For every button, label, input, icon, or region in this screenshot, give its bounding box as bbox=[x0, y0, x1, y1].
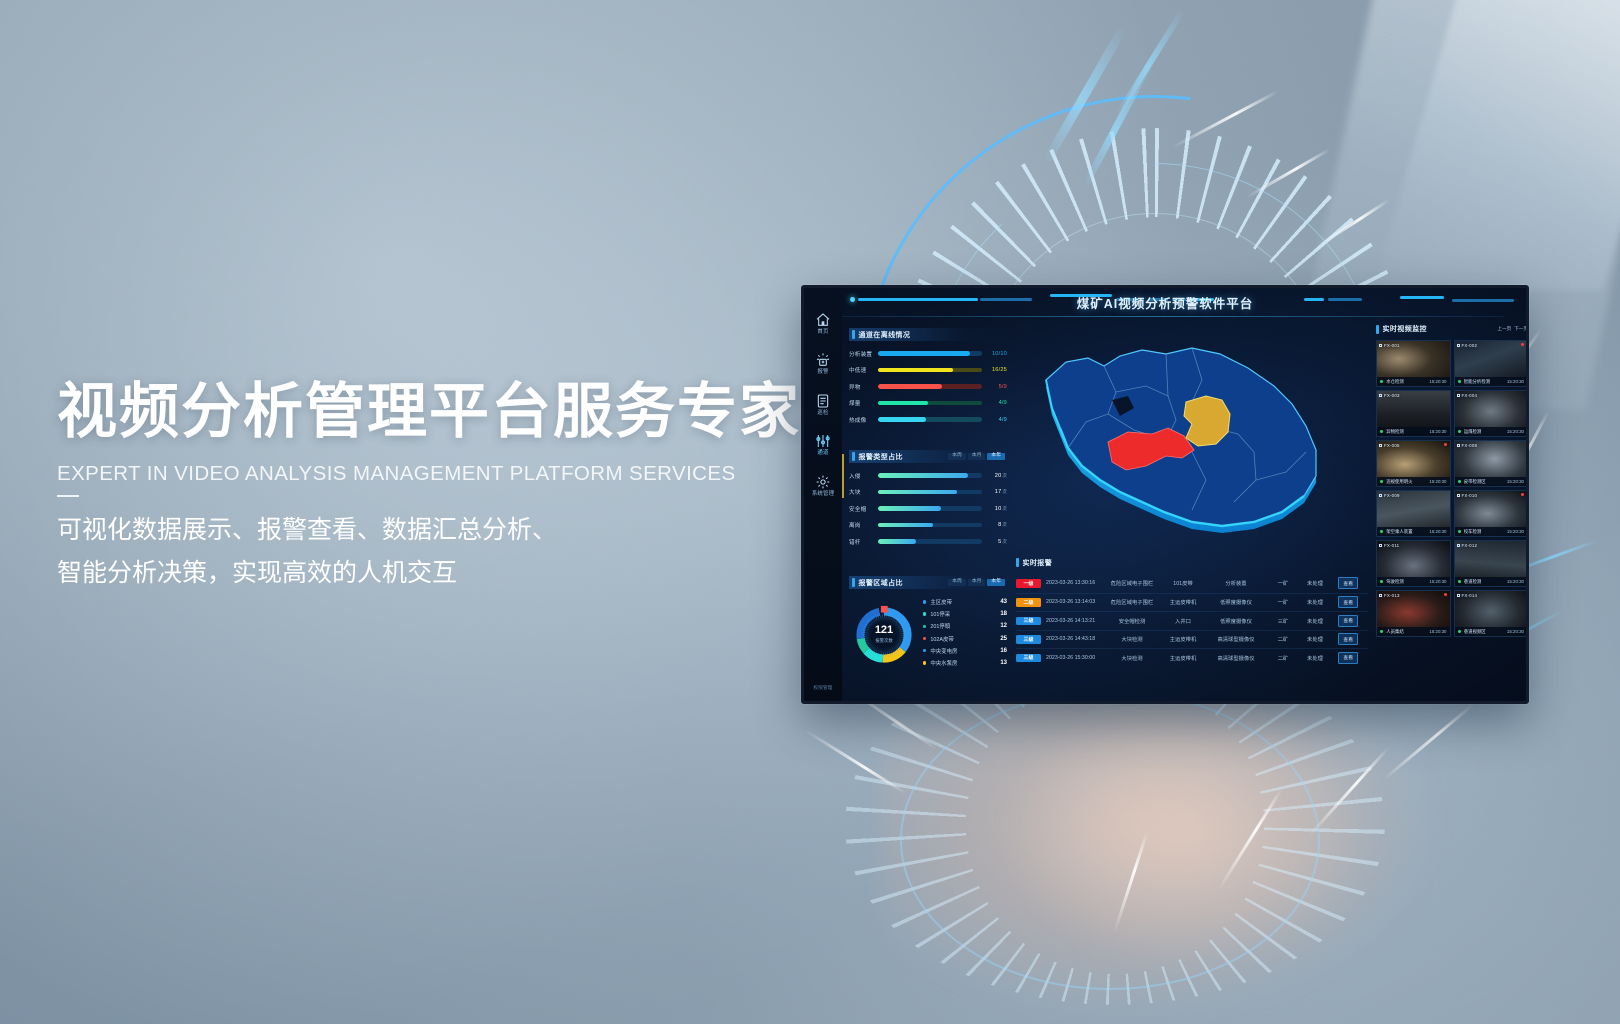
video-tile-footer: 皮带检测区15:20:30 bbox=[1455, 477, 1527, 486]
type-panel-tabs[interactable]: 本周本月本年 bbox=[948, 453, 1007, 461]
table-row: 一级2023-03-26 13:30:16危险区域电子围栏101皮带分析装置一矿… bbox=[1016, 574, 1368, 593]
video-tile-footer: 驾驶检测15:20:30 bbox=[1377, 577, 1450, 586]
camera-id-label: FX-004 bbox=[1457, 393, 1478, 398]
video-tile-footer: 巷道检测15:20:30 bbox=[1455, 577, 1527, 586]
camera-name-label: 巷道视频区 bbox=[1464, 629, 1507, 635]
alarm-type-label: 大块 bbox=[849, 488, 878, 496]
hero-desc-line-1: 可视化数据展示、报警查看、数据汇总分析、 bbox=[57, 509, 817, 552]
donut-center: 121 报警次数 bbox=[866, 617, 902, 653]
type-rows: 入侵20次大块17次安全帽10次离岗8次错杆5次 bbox=[849, 472, 1007, 546]
legend-value: 25 bbox=[993, 636, 1007, 642]
video-grid: FX-001水仓检测15:20:30FX-002智能分析检测15:20:30FX… bbox=[1376, 340, 1526, 637]
online-status-icon bbox=[1458, 530, 1461, 533]
alarm-type-fill bbox=[878, 539, 916, 543]
alarm-device: 低照度摄像仪 bbox=[1206, 598, 1266, 606]
accent-bar bbox=[852, 578, 855, 587]
alarm-type-value: 17次 bbox=[982, 489, 1007, 495]
camera-time-label: 15:20:30 bbox=[1507, 629, 1524, 634]
camera-time-label: 15:20:30 bbox=[1429, 529, 1446, 534]
table-row: 三级2023-03-26 15:30:00大块检测主运皮带机高清球型摄像仪二矿未… bbox=[1016, 648, 1368, 667]
camera-time-label: 15:20:30 bbox=[1507, 429, 1524, 434]
camera-time-label: 15:20:30 bbox=[1507, 479, 1524, 484]
legend-label: 101停采 bbox=[930, 610, 993, 618]
sidebar-label-inspection: 巡检 bbox=[804, 411, 842, 416]
hero-desc-line-2: 智能分析决策，实现高效的人机交互 bbox=[57, 552, 817, 595]
alarm-type-label: 错杆 bbox=[849, 538, 878, 546]
alarm-type-row: 入侵20次 bbox=[849, 472, 1007, 480]
dashboard-screen: 煤矿AI视频分析预警软件平台 首页 报警 巡检 通道 bbox=[804, 288, 1526, 701]
camera-icon bbox=[1457, 444, 1460, 447]
video-tile-footer: 人员集结15:20:30 bbox=[1377, 627, 1450, 636]
tab-本周[interactable]: 本周 bbox=[948, 579, 966, 587]
camera-id-label: FX-011 bbox=[1379, 543, 1399, 548]
status-badge: 二级 bbox=[1016, 598, 1041, 607]
next-page-button[interactable]: 下一页 bbox=[1514, 326, 1526, 332]
app-title: 煤矿AI视频分析预警软件平台 bbox=[804, 293, 1526, 312]
online-status-icon bbox=[1380, 480, 1383, 483]
camera-icon bbox=[1457, 344, 1460, 347]
alarm-position: 主运皮带机 bbox=[1160, 598, 1206, 606]
camera-name-label: 异物检测 bbox=[1386, 429, 1429, 435]
video-panel-header: 实时视频监控 上一页 下一页 bbox=[1376, 324, 1526, 334]
video-tile-footer: 智能分析检测15:20:30 bbox=[1455, 377, 1527, 386]
realtime-alarm-panel: 实时报警 一级2023-03-26 13:30:16危险区域电子围栏101皮带分… bbox=[1016, 556, 1368, 667]
camera-id-label: FX-008 bbox=[1457, 443, 1478, 448]
view-button[interactable]: 查看 bbox=[1338, 633, 1358, 645]
alarm-status: 未处理 bbox=[1300, 617, 1330, 625]
video-tile[interactable]: FX-011驾驶检测15:20:30 bbox=[1376, 540, 1451, 587]
alarm-type-fill bbox=[878, 490, 957, 494]
sidebar-label-channel: 通道 bbox=[804, 451, 842, 456]
legend-color-dot bbox=[923, 625, 926, 628]
type-panel-title: 报警类型占比 bbox=[859, 452, 903, 462]
alarm-type-track bbox=[878, 506, 982, 510]
channel-row-value: 4/9 bbox=[982, 400, 1007, 406]
alarm-time: 2023-03-26 15:30:00 bbox=[1046, 655, 1104, 661]
legend-color-dot bbox=[923, 612, 926, 615]
alarm-mine: 三矿 bbox=[1266, 617, 1300, 625]
camera-name-label: 违规使用明火 bbox=[1386, 479, 1429, 485]
donut-center-label: 报警次数 bbox=[875, 638, 893, 644]
online-status-icon bbox=[1458, 430, 1461, 433]
camera-icon bbox=[1457, 494, 1460, 497]
camera-icon bbox=[1379, 344, 1382, 347]
alarm-time: 2023-03-26 13:30:16 bbox=[1046, 580, 1104, 586]
video-panel-title: 实时视频监控 bbox=[1383, 324, 1427, 334]
alarm-action[interactable]: 查看 bbox=[1330, 615, 1358, 627]
online-status-icon bbox=[1458, 480, 1461, 483]
donut-legend-item: 中央变电房16 bbox=[923, 647, 1007, 655]
alarm-type-fill bbox=[878, 506, 941, 510]
alarm-type: 危险区域电子围栏 bbox=[1104, 598, 1160, 606]
camera-icon bbox=[1379, 444, 1382, 447]
alarm-type-label: 安全帽 bbox=[849, 505, 878, 513]
legend-color-dot bbox=[923, 600, 926, 603]
legend-value: 13 bbox=[993, 660, 1007, 666]
channel-row: 热成像4/9 bbox=[849, 416, 1007, 424]
clipboard-icon bbox=[815, 393, 831, 409]
channel-row-track bbox=[878, 384, 982, 388]
video-tile[interactable]: FX-002智能分析检测15:20:30 bbox=[1454, 340, 1527, 387]
video-tile-footer: 绞车检测15:20:30 bbox=[1455, 527, 1527, 536]
camera-icon bbox=[1457, 544, 1460, 547]
panel-header: 实时报警 bbox=[1016, 556, 1368, 569]
recording-indicator-icon bbox=[1521, 343, 1524, 346]
accent-bar bbox=[1016, 558, 1019, 567]
camera-time-label: 15:20:30 bbox=[1429, 429, 1446, 434]
legend-value: 16 bbox=[993, 648, 1007, 654]
legend-label: 中央变电房 bbox=[930, 647, 993, 655]
channel-row-track bbox=[878, 351, 982, 355]
view-button[interactable]: 查看 bbox=[1338, 615, 1358, 627]
alarm-type: 危险区域电子围栏 bbox=[1104, 579, 1160, 587]
camera-id-label: FX-005 bbox=[1379, 443, 1400, 448]
camera-icon bbox=[1379, 594, 1382, 597]
channel-row-label: 中低速 bbox=[849, 366, 878, 374]
status-badge: 三级 bbox=[1016, 635, 1041, 644]
alarm-device: 分析装置 bbox=[1206, 579, 1266, 587]
alarm-panel-title: 实时报警 bbox=[1023, 558, 1053, 568]
province-map[interactable] bbox=[1016, 330, 1361, 552]
recording-indicator-icon bbox=[1444, 593, 1447, 596]
sidebar-item-system[interactable]: 系统管理 bbox=[804, 474, 842, 497]
video-tile[interactable]: FX-009架空乘人装置15:20:30 bbox=[1376, 490, 1451, 537]
sliders-icon bbox=[815, 433, 831, 449]
dashboard-monitor: 煤矿AI视频分析预警软件平台 首页 报警 巡检 通道 bbox=[801, 285, 1529, 704]
video-tile-footer: 水仓检测15:20:30 bbox=[1377, 377, 1450, 386]
alarm-position: 101皮带 bbox=[1160, 579, 1206, 587]
status-badge: 一级 bbox=[1016, 579, 1041, 588]
online-status-icon bbox=[1380, 380, 1383, 383]
sidebar-item-home[interactable]: 首页 bbox=[804, 312, 842, 335]
alarm-position: 入井口 bbox=[1160, 617, 1206, 625]
channel-row-value: 10/10 bbox=[982, 351, 1007, 357]
accent-bar bbox=[852, 330, 855, 339]
online-status-icon bbox=[1458, 580, 1461, 583]
camera-name-label: 皮带检测区 bbox=[1464, 479, 1507, 485]
camera-icon bbox=[1457, 394, 1460, 397]
alarm-position: 主运皮带机 bbox=[1160, 635, 1206, 643]
alarm-mine: 二矿 bbox=[1266, 654, 1300, 662]
video-tile-footer: 异物检测15:20:30 bbox=[1377, 427, 1450, 436]
recording-indicator-icon bbox=[1444, 443, 1447, 446]
channel-row-fill bbox=[878, 351, 970, 355]
camera-id-label: FX-010 bbox=[1457, 493, 1478, 498]
video-tile[interactable]: FX-003异物检测15:20:30 bbox=[1376, 390, 1451, 437]
camera-icon bbox=[1379, 544, 1382, 547]
hero-text-block: 视频分析管理平台服务专家 EXPERT IN VIDEO ANALYSIS MA… bbox=[57, 378, 817, 595]
video-tile[interactable]: FX-010绞车检测15:20:30 bbox=[1454, 490, 1527, 537]
channel-row-fill bbox=[878, 368, 953, 372]
legend-color-dot bbox=[923, 661, 926, 664]
table-row: 三级2023-03-26 14:43:18大块检测主运皮带机高清球型摄像仪二矿未… bbox=[1016, 630, 1368, 649]
online-status-icon bbox=[1458, 630, 1461, 633]
tab-本年[interactable]: 本年 bbox=[987, 453, 1005, 461]
alarm-status: 未处理 bbox=[1300, 598, 1330, 606]
alarm-status: 未处理 bbox=[1300, 635, 1330, 643]
area-panel-title: 报警区域占比 bbox=[859, 578, 903, 588]
alarm-area-donut-chart: 121 报警次数 bbox=[853, 604, 915, 666]
tab-本月[interactable]: 本月 bbox=[968, 453, 986, 461]
sidebar: 首页 报警 巡检 通道 系统管理 权限管理 bbox=[804, 288, 842, 701]
channel-status-panel: 通道在离线情况 分析装置10/10中低速16/25异物5/9煤量4/9热成像4/… bbox=[849, 328, 1007, 424]
channel-row: 中低速16/25 bbox=[849, 366, 1007, 374]
map-svg bbox=[1016, 330, 1361, 552]
camera-name-label: 人员集结 bbox=[1386, 629, 1429, 635]
status-badge: 三级 bbox=[1016, 617, 1041, 626]
channel-row: 分析装置10/10 bbox=[849, 350, 1007, 358]
accent-bar bbox=[1376, 325, 1379, 334]
page-subtitle: EXPERT IN VIDEO ANALYSIS MANAGEMENT PLAT… bbox=[57, 462, 817, 486]
video-tile[interactable]: FX-001水仓检测15:20:30 bbox=[1376, 340, 1451, 387]
alarm-type-track bbox=[878, 523, 982, 527]
recording-indicator-icon bbox=[1521, 493, 1524, 496]
camera-name-label: 巷道检测 bbox=[1464, 579, 1507, 585]
channel-row-fill bbox=[878, 417, 926, 421]
alarm-time: 2023-03-26 14:13:21 bbox=[1046, 618, 1104, 624]
online-status-icon bbox=[1380, 580, 1383, 583]
camera-time-label: 15:20:30 bbox=[1429, 479, 1446, 484]
camera-id-label: FX-003 bbox=[1379, 393, 1400, 398]
donut-legend-item: 101停采18 bbox=[923, 610, 1007, 618]
channel-rows: 分析装置10/10中低速16/25异物5/9煤量4/9热成像4/9 bbox=[849, 350, 1007, 424]
channel-row-label: 煤量 bbox=[849, 399, 878, 407]
alarm-type-label: 入侵 bbox=[849, 472, 878, 480]
legend-color-dot bbox=[923, 637, 926, 640]
alarm-action[interactable]: 查看 bbox=[1330, 596, 1358, 608]
realtime-video-panel: 实时视频监控 上一页 下一页 FX-001水仓检测15:20:30FX-002智… bbox=[1376, 324, 1526, 695]
online-status-icon bbox=[1380, 530, 1383, 533]
table-row: 二级2023-03-26 13:14:03危险区域电子围栏主运皮带机低照度摄像仪… bbox=[1016, 593, 1368, 612]
channel-row-track bbox=[878, 417, 982, 421]
panel-header: 通道在离线情况 bbox=[849, 328, 1007, 341]
camera-time-label: 15:20:30 bbox=[1429, 629, 1446, 634]
alarm-position: 主运皮带机 bbox=[1160, 654, 1206, 662]
alarm-type-value: 10次 bbox=[982, 506, 1007, 512]
channel-row: 煤量4/9 bbox=[849, 399, 1007, 407]
channel-row-track bbox=[878, 368, 982, 372]
area-panel-tabs[interactable]: 本周本月本年 bbox=[948, 579, 1007, 587]
page-title: 视频分析管理平台服务专家 bbox=[57, 378, 817, 445]
legend-label: 中央水泵房 bbox=[930, 659, 993, 667]
tab-本月[interactable]: 本月 bbox=[968, 579, 986, 587]
alarm-device: 高清球型摄像仪 bbox=[1206, 635, 1266, 643]
tab-本周[interactable]: 本周 bbox=[948, 453, 966, 461]
camera-time-label: 15:20:30 bbox=[1429, 379, 1446, 384]
sidebar-item-channel[interactable]: 通道 bbox=[804, 433, 842, 456]
view-button[interactable]: 查看 bbox=[1338, 596, 1358, 608]
camera-id-label: FX-009 bbox=[1379, 493, 1400, 498]
camera-time-label: 15:20:30 bbox=[1507, 529, 1524, 534]
camera-icon bbox=[1457, 594, 1460, 597]
alarm-type-track bbox=[878, 473, 982, 477]
alarm-device: 低照度摄像仪 bbox=[1206, 617, 1266, 625]
video-tile[interactable]: FX-014巷道视频区15:20:30 bbox=[1454, 590, 1527, 637]
alarm-status: 未处理 bbox=[1300, 654, 1330, 662]
view-button[interactable]: 查看 bbox=[1338, 577, 1358, 589]
camera-name-label: 架空乘人装置 bbox=[1386, 529, 1429, 535]
sidebar-active-indicator bbox=[842, 454, 844, 498]
legend-value: 43 bbox=[993, 599, 1007, 605]
online-status-icon bbox=[1380, 630, 1383, 633]
alarm-type-track bbox=[878, 539, 982, 543]
tab-本年[interactable]: 本年 bbox=[987, 579, 1005, 587]
alarm-action[interactable]: 查看 bbox=[1330, 577, 1358, 589]
alarm-time: 2023-03-26 14:43:18 bbox=[1046, 636, 1104, 642]
alarm-time: 2023-03-26 13:14:03 bbox=[1046, 599, 1104, 605]
camera-id-label: FX-002 bbox=[1457, 343, 1478, 348]
legend-value: 18 bbox=[993, 611, 1007, 617]
alarm-type-panel: 报警类型占比 本周本月本年 入侵20次大块17次安全帽10次离岗8次错杆5次 bbox=[849, 450, 1007, 546]
channel-row: 异物5/9 bbox=[849, 383, 1007, 391]
panel-header: 报警区域占比 本周本月本年 bbox=[849, 576, 1007, 589]
donut-legend: 主区皮带43101停采18201停頭12102A皮带25中央变电房16中央水泵房… bbox=[923, 598, 1007, 671]
alarm-type-fill bbox=[878, 473, 968, 477]
sidebar-footer: 权限管理 bbox=[804, 686, 842, 691]
legend-label: 102A皮带 bbox=[930, 635, 993, 643]
status-badge: 三级 bbox=[1016, 654, 1041, 663]
alarm-action[interactable]: 查看 bbox=[1330, 633, 1358, 645]
alarm-type-track bbox=[878, 490, 982, 494]
alarm-mine: 一矿 bbox=[1266, 579, 1300, 587]
alarm-device: 高清球型摄像仪 bbox=[1206, 654, 1266, 662]
channel-row-label: 热成像 bbox=[849, 416, 878, 424]
alarm-mine: 一矿 bbox=[1266, 598, 1300, 606]
video-tile[interactable]: FX-012巷道检测15:20:30 bbox=[1454, 540, 1527, 587]
donut-legend-item: 201停頭12 bbox=[923, 622, 1007, 630]
donut-legend-item: 102A皮带25 bbox=[923, 635, 1007, 643]
video-tile[interactable]: FX-004运煤检测15:20:30 bbox=[1454, 390, 1527, 437]
sidebar-footer-label: 权限管理 bbox=[804, 686, 842, 691]
camera-name-label: 绞车检测 bbox=[1464, 529, 1507, 535]
home-icon bbox=[815, 312, 831, 328]
background-hand-highlight bbox=[1000, 720, 1380, 970]
alarm-type: 安全帽检测 bbox=[1104, 617, 1160, 625]
sidebar-label-alarm: 报警 bbox=[804, 370, 842, 375]
alarm-type: 大块检测 bbox=[1104, 635, 1160, 643]
video-tile-footer: 巷道视频区15:20:30 bbox=[1455, 627, 1527, 636]
alarm-table: 一级2023-03-26 13:30:16危险区域电子围栏101皮带分析装置一矿… bbox=[1016, 574, 1368, 667]
channel-row-fill bbox=[878, 384, 942, 388]
sidebar-label-home: 首页 bbox=[804, 330, 842, 335]
channel-row-label: 分析装置 bbox=[849, 350, 878, 358]
channel-row-value: 4/9 bbox=[982, 417, 1007, 423]
online-status-icon bbox=[1380, 430, 1383, 433]
channel-row-fill bbox=[878, 401, 928, 405]
sidebar-item-alarm[interactable]: 报警 bbox=[804, 352, 842, 375]
camera-name-label: 水仓检测 bbox=[1386, 379, 1429, 385]
sidebar-item-inspection[interactable]: 巡检 bbox=[804, 393, 842, 416]
video-tile-footer: 违规使用明火15:20:30 bbox=[1377, 477, 1450, 486]
video-tile[interactable]: FX-013人员集结15:20:30 bbox=[1376, 590, 1451, 637]
alarm-type-row: 离岗8次 bbox=[849, 521, 1007, 529]
camera-icon bbox=[1379, 494, 1382, 497]
panel-header: 报警类型占比 本周本月本年 bbox=[849, 450, 1007, 463]
alarm-action[interactable]: 查看 bbox=[1330, 652, 1358, 664]
legend-value: 12 bbox=[993, 623, 1007, 629]
donut-center-value: 121 bbox=[875, 625, 893, 636]
camera-time-label: 15:20:30 bbox=[1429, 579, 1446, 584]
divider bbox=[57, 495, 79, 497]
prev-page-button[interactable]: 上一页 bbox=[1497, 326, 1511, 332]
donut-legend-item: 主区皮带43 bbox=[923, 598, 1007, 606]
alarm-type: 大块检测 bbox=[1104, 654, 1160, 662]
camera-time-label: 15:20:30 bbox=[1507, 379, 1524, 384]
camera-time-label: 15:20:30 bbox=[1507, 579, 1524, 584]
gear-icon bbox=[815, 474, 831, 490]
sidebar-label-system: 系统管理 bbox=[804, 492, 842, 497]
channel-row-value: 16/25 bbox=[982, 367, 1007, 373]
channel-row-track bbox=[878, 401, 982, 405]
channel-panel-title: 通道在离线情况 bbox=[859, 330, 911, 340]
alarm-type-row: 安全帽10次 bbox=[849, 505, 1007, 513]
alarm-type-row: 错杆5次 bbox=[849, 538, 1007, 546]
video-tile[interactable]: FX-005违规使用明火15:20:30 bbox=[1376, 440, 1451, 487]
channel-row-label: 异物 bbox=[849, 383, 878, 391]
alarm-type-value: 8次 bbox=[982, 522, 1007, 528]
alarm-status: 未处理 bbox=[1300, 579, 1330, 587]
accent-bar bbox=[852, 452, 855, 461]
legend-label: 主区皮带 bbox=[930, 598, 993, 606]
alarm-area-panel: 报警区域占比 本周本月本年 121 报警次数 bbox=[849, 576, 1007, 671]
legend-label: 201停頭 bbox=[930, 622, 993, 630]
table-row: 三级2023-03-26 14:13:21安全帽检测入井口低照度摄像仪三矿未处理… bbox=[1016, 611, 1368, 630]
camera-name-label: 智能分析检测 bbox=[1464, 379, 1507, 385]
channel-row-value: 5/9 bbox=[982, 384, 1007, 390]
view-button[interactable]: 查看 bbox=[1338, 652, 1358, 664]
alarm-mine: 二矿 bbox=[1266, 635, 1300, 643]
camera-name-label: 运煤检测 bbox=[1464, 429, 1507, 435]
camera-id-label: FX-013 bbox=[1379, 593, 1400, 598]
video-tile[interactable]: FX-008皮带检测区15:20:30 bbox=[1454, 440, 1527, 487]
legend-color-dot bbox=[923, 649, 926, 652]
alarm-type-row: 大块17次 bbox=[849, 488, 1007, 496]
alarm-type-label: 离岗 bbox=[849, 521, 878, 529]
camera-id-label: FX-014 bbox=[1457, 593, 1478, 598]
camera-id-label: FX-001 bbox=[1379, 343, 1400, 348]
camera-id-label: FX-012 bbox=[1457, 543, 1478, 548]
alarm-light-icon bbox=[815, 352, 831, 368]
camera-name-label: 驾驶检测 bbox=[1386, 579, 1429, 585]
donut-legend-item: 中央水泵房13 bbox=[923, 659, 1007, 667]
alarm-type-value: 5次 bbox=[982, 539, 1007, 545]
camera-icon bbox=[1379, 394, 1382, 397]
online-status-icon bbox=[1458, 380, 1461, 383]
alarm-type-fill bbox=[878, 523, 933, 527]
video-tile-footer: 架空乘人装置15:20:30 bbox=[1377, 527, 1450, 536]
alarm-type-value: 20次 bbox=[982, 473, 1007, 479]
video-tile-footer: 运煤检测15:20:30 bbox=[1455, 427, 1527, 436]
